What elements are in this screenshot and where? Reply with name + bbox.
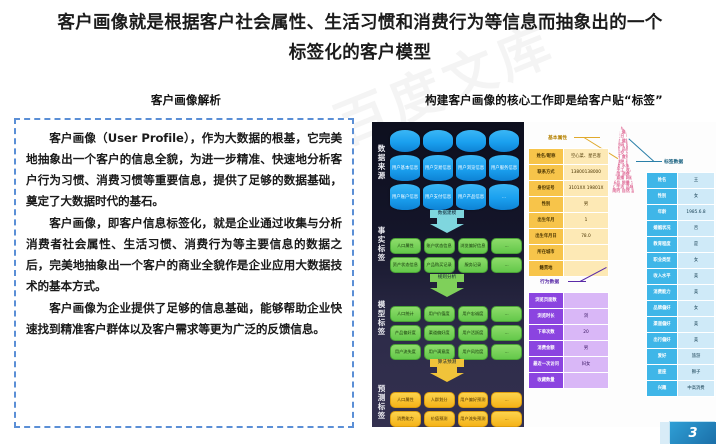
table-row: 年龄1985.6.8 bbox=[647, 205, 715, 221]
table-row: 兴趣中高消费 bbox=[647, 381, 715, 397]
table-row: 品牌偏好女 bbox=[647, 301, 715, 317]
model-tag-cell: 用户风险度 bbox=[458, 344, 489, 360]
leader-line-blue bbox=[636, 161, 662, 162]
model-tag-cell: 渠道偏好度 bbox=[424, 325, 455, 341]
cylinder-cap bbox=[390, 130, 420, 152]
model-tag-cell: … bbox=[491, 325, 522, 341]
table-row: 下单次数20 bbox=[529, 325, 609, 341]
table-row: 收入水平美 bbox=[647, 269, 715, 285]
table-row: 教育程度是 bbox=[647, 237, 715, 253]
table-row: 性别女 bbox=[647, 189, 715, 205]
stage-label-fact-tag: 事实标签 bbox=[374, 226, 389, 262]
section-heading-right: 构建客户画像的核心工作即是给客户贴“标签” bbox=[394, 92, 694, 108]
callout-behavior-data: 行为数据 bbox=[540, 278, 559, 285]
model-tag-cell: 用户活跃度 bbox=[458, 325, 489, 341]
table-row: 性别男 bbox=[529, 197, 609, 213]
table-row: 籍贯地 bbox=[529, 261, 609, 277]
model-tag-cell: 用户流失度 bbox=[390, 344, 421, 360]
predict-tag-cell: 用户偏好预测 bbox=[458, 392, 489, 408]
model-tag-cell: … bbox=[491, 344, 522, 360]
page-title: 客户画像就是根据客户社会属性、生活习惯和消费行为等信息而抽象出的一个 标签化的客… bbox=[0, 8, 720, 68]
model-tag-cell: … bbox=[491, 306, 522, 322]
leader-line-purple bbox=[568, 281, 586, 282]
model-tag-row: 用户流失度 用户满意度 用户风险度 … bbox=[390, 344, 522, 360]
cylinder-cap bbox=[456, 130, 486, 152]
tag-data-table: 姓名王 性别女 年龄1985.6.8 婚姻状况否 教育程度是 职业类型女 收入水… bbox=[646, 172, 715, 397]
table-row: 爱好旅游 bbox=[647, 349, 715, 365]
model-tag-cell: 用户忠诚度 bbox=[458, 306, 489, 322]
predict-tag-cell: 用户流失预测 bbox=[458, 411, 489, 427]
fact-tag-cell: 人口属性 bbox=[390, 238, 421, 254]
table-row: 出行偏好美 bbox=[647, 333, 715, 349]
model-tag-cell: 人口统计 bbox=[390, 306, 421, 322]
tag-pipeline-panel: 数据来源 事实标签 模型标签 预测标签 用户基本信息 bbox=[372, 122, 524, 427]
cylinder-cell: 用户交易信息 bbox=[423, 155, 453, 181]
table-row: 职业类型女 bbox=[647, 253, 715, 269]
table-row: 渠道偏好美 bbox=[647, 317, 715, 333]
predict-tag-cell: 价值预测 bbox=[424, 411, 455, 427]
cylinder-cell: 用户支付信息 bbox=[423, 184, 453, 210]
fact-tag-cell: 账户状态信息 bbox=[424, 238, 455, 254]
cylinder-cell: 用户基本信息 bbox=[390, 155, 420, 181]
fact-tag-row: 人口属性 账户状态信息 浏览偏好信息 … bbox=[390, 238, 522, 254]
fact-tag-row: 资产状态信息 产品购买记录 服务记录 … bbox=[390, 257, 522, 273]
table-row: 浏览时长浏 bbox=[529, 309, 609, 325]
page-number-fold bbox=[660, 422, 670, 444]
page-number: 3 bbox=[670, 422, 716, 444]
fact-tag-cell: … bbox=[491, 257, 522, 273]
behavior-data-table: 浏览页面数 浏览时长浏 下单次数20 消费金额男 最近一次访问妇女 收藏数量 bbox=[528, 292, 609, 389]
model-tag-row: 产品偏好度 渠道偏好度 用户活跃度 … bbox=[390, 325, 522, 341]
customer-profile-diagram: 数据来源 事实标签 模型标签 预测标签 用户基本信息 bbox=[372, 122, 716, 427]
table-row: 最近一次访问妇女 bbox=[529, 357, 609, 373]
table-row: 姓名王 bbox=[647, 173, 715, 189]
table-row: 星座狮子 bbox=[647, 365, 715, 381]
cylinder-row: 用户基本信息 用户交易信息 用户浏览信息 用户服务信息 bbox=[390, 155, 522, 181]
table-row: 收藏数量 bbox=[529, 373, 609, 389]
table-row: 身份证号3101XX 19801X bbox=[529, 181, 609, 197]
predict-tag-cell: … bbox=[491, 392, 522, 408]
cylinder-row bbox=[390, 130, 522, 152]
callout-tag-data: 标签数据 bbox=[664, 158, 683, 165]
section-heading-left: 客户画像解析 bbox=[96, 92, 276, 108]
cylinder-cap bbox=[423, 130, 453, 152]
stage-label-data-source: 数据来源 bbox=[374, 144, 389, 180]
table-row: 姓名/昵称空心菜、星巴客 bbox=[529, 149, 609, 165]
cylinder-cap bbox=[489, 130, 519, 152]
model-tag-band: 人口统计 用户价值度 用户忠诚度 … 产品偏好度 渠道偏好度 用户活跃度 … 用… bbox=[390, 306, 522, 363]
table-row: 消费能力美 bbox=[647, 285, 715, 301]
arrow-rule-analysis: 规则分析 bbox=[430, 274, 464, 297]
cylinder-cell: 用户产品信息 bbox=[456, 184, 486, 210]
paragraph-2: 客户画像，即客户信息标签化，就是企业通过收集与分析消费者社会属性、生活习惯、消费… bbox=[26, 213, 342, 297]
arrow-algorithm-prediction: 算法预测 bbox=[430, 359, 464, 382]
stage-label-model-tag: 模型标签 bbox=[374, 300, 389, 336]
model-tag-cell: 用户价值度 bbox=[424, 306, 455, 322]
predict-tag-cell: 消费能力 bbox=[390, 411, 421, 427]
basic-attributes-table-body: 姓名/昵称空心菜、星巴客 联系方式13800138000 身份证号3101XX … bbox=[529, 149, 609, 277]
fact-tag-cell: 服务记录 bbox=[458, 257, 489, 273]
predict-tag-cell: 人群划分 bbox=[424, 392, 455, 408]
behavior-data-table-body: 浏览页面数 浏览时长浏 下单次数20 消费金额男 最近一次访问妇女 收藏数量 bbox=[529, 293, 609, 389]
profile-tables-panel: Dior 香水 口红 购物 旅游 美食 咖啡 母婴 健身 时尚 护肤 彩妆 理财… bbox=[524, 122, 716, 427]
table-row: 出生年月1 bbox=[529, 213, 609, 229]
model-tag-row: 人口统计 用户价值度 用户忠诚度 … bbox=[390, 306, 522, 322]
cylinder-row: 用户账户信息 用户支付信息 用户产品信息 … bbox=[390, 184, 522, 210]
table-row: 浏览页面数 bbox=[529, 293, 609, 309]
stage-label-predict-tag: 预测标签 bbox=[374, 384, 389, 420]
predict-tag-row: 消费能力 价值预测 用户流失预测 … bbox=[390, 411, 522, 427]
arrow-data-modeling: 数据建模 bbox=[430, 210, 464, 233]
cylinder-cell: 用户服务信息 bbox=[489, 155, 519, 181]
table-row: 出生年月日78.0 bbox=[529, 229, 609, 245]
model-tag-cell: 产品偏好度 bbox=[390, 325, 421, 341]
table-row: 联系方式13800138000 bbox=[529, 165, 609, 181]
tag-data-table-body: 姓名王 性别女 年龄1985.6.8 婚姻状况否 教育程度是 职业类型女 收入水… bbox=[647, 173, 715, 397]
fact-tag-cell: 资产状态信息 bbox=[390, 257, 421, 273]
fact-tag-band: 人口属性 账户状态信息 浏览偏好信息 … 资产状态信息 产品购买记录 服务记录 … bbox=[390, 238, 522, 276]
fact-tag-cell: 浏览偏好信息 bbox=[458, 238, 489, 254]
explanation-panel: 客户画像（User Profile），作为大数据的根基，它完美地抽象出一个客户的… bbox=[14, 118, 354, 428]
data-source-band: 用户基本信息 用户交易信息 用户浏览信息 用户服务信息 用户账户信息 用户支付信… bbox=[390, 130, 522, 213]
predict-tag-cell: 人口属性 bbox=[390, 392, 421, 408]
table-row: 婚姻状况否 bbox=[647, 221, 715, 237]
cylinder-cell: 用户浏览信息 bbox=[456, 155, 486, 181]
cylinder-cell: 用户账户信息 bbox=[390, 184, 420, 210]
paragraph-3: 客户画像为企业提供了足够的信息基础，能够帮助企业快速找到精准客户群体以及客户需求… bbox=[26, 298, 342, 340]
predict-tag-band: 人口属性 人群划分 用户偏好预测 … 消费能力 价值预测 用户流失预测 … bbox=[390, 392, 522, 427]
predict-tag-row: 人口属性 人群划分 用户偏好预测 … bbox=[390, 392, 522, 408]
title-line-1: 客户画像就是根据客户社会属性、生活习惯和消费行为等信息而抽象出的一个 bbox=[0, 8, 720, 38]
predict-tag-cell: … bbox=[491, 411, 522, 427]
model-tag-cell: 用户满意度 bbox=[424, 344, 455, 360]
paragraph-1: 客户画像（User Profile），作为大数据的根基，它完美地抽象出一个客户的… bbox=[26, 128, 342, 212]
table-row: 消费金额男 bbox=[529, 341, 609, 357]
slide: 百度文库 百度文库 客户画像就是根据客户社会属性、生活习惯和消费行为等信息而抽象… bbox=[0, 0, 720, 448]
cylinder-cell: … bbox=[489, 184, 519, 210]
fact-tag-cell: … bbox=[491, 238, 522, 254]
fact-tag-cell: 产品购买记录 bbox=[424, 257, 455, 273]
basic-attributes-table: 姓名/昵称空心菜、星巴客 联系方式13800138000 身份证号3101XX … bbox=[528, 148, 609, 277]
table-row: 所在城市 bbox=[529, 245, 609, 261]
callout-basic-attributes: 基本属性 bbox=[548, 134, 567, 141]
title-line-2: 标签化的客户模型 bbox=[0, 38, 720, 68]
